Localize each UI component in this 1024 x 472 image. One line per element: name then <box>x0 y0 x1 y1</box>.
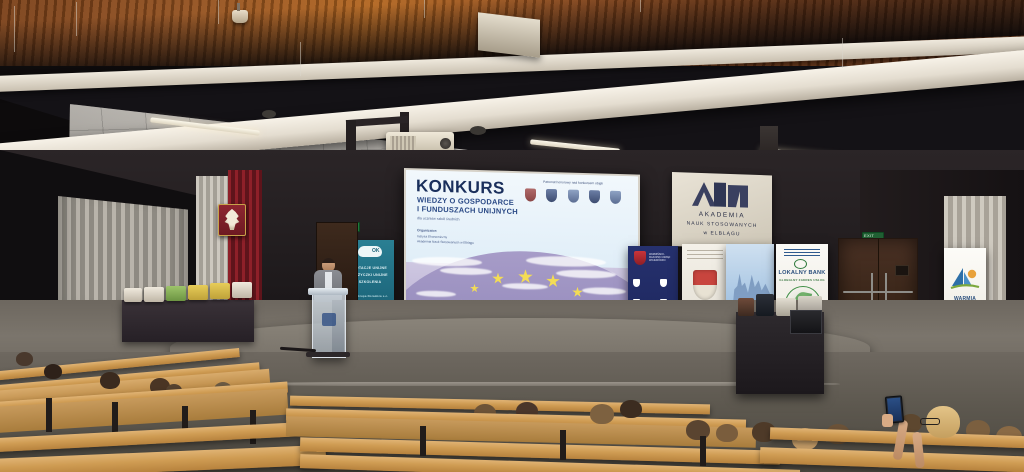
lectern-base <box>306 352 350 357</box>
speaker-shirt <box>325 272 332 288</box>
patron-logo-wojewoda-crest <box>546 189 557 202</box>
lectern-top-laptop <box>308 288 348 295</box>
ceiling-vent <box>262 110 276 118</box>
patron-logo-elblag-crest <box>525 189 536 202</box>
bench-support <box>46 398 52 432</box>
slide-patron-logos <box>514 186 632 207</box>
banner-wojewoda-heading: WARMIŃSKO-MAZURSKI URZĄD WOJEWÓDZKI <box>649 253 675 262</box>
slide-organizer-label: Organizator: <box>417 228 437 233</box>
lectern <box>312 292 346 358</box>
ceiling-wire <box>424 0 425 18</box>
bank-logo-icon <box>794 259 807 269</box>
patron-logo-kuratorium-crest <box>568 190 579 203</box>
audience-head <box>16 352 33 366</box>
lecture-hall-photo: EXIT AKADEMIA NAUK STOSOWANYCH w ELBLĄGU <box>0 0 1024 472</box>
prize-basket <box>166 286 186 301</box>
bench-support <box>420 426 426 456</box>
banner-bank-subtitle: GLOBALNY ZAKRES USŁUG <box>776 278 828 282</box>
mini-crest-icon <box>660 279 667 287</box>
prize-basket <box>144 287 164 302</box>
ceiling-spotlight <box>232 10 248 23</box>
ceiling-speaker <box>478 12 540 58</box>
banner-crest-heading <box>687 250 723 260</box>
photographer-hand <box>882 414 893 427</box>
patron-logo-ans <box>610 191 621 204</box>
av-box <box>756 294 774 316</box>
wojewoda-eagle-icon <box>634 251 646 265</box>
ans-logo-icon <box>690 180 752 210</box>
heraldic-crest-icon <box>693 270 717 300</box>
banner-bank-title: LOKALNY BANK <box>776 270 828 276</box>
av-box <box>738 298 754 316</box>
ans-sign-line1: AKADEMIA <box>672 210 772 220</box>
sail-sun-logo-icon <box>950 266 980 290</box>
bench-support <box>560 430 566 460</box>
audience-head <box>686 420 710 440</box>
lectern-logo-icon <box>322 313 336 326</box>
audience-head <box>620 400 642 418</box>
ceiling-wire <box>76 2 77 36</box>
mini-crest-icon <box>633 279 640 287</box>
audience-head <box>44 364 62 379</box>
ans-sign-line3: w ELBLĄGU <box>672 229 772 238</box>
patron-logo-marszalek-crest <box>589 190 600 203</box>
slide-organizer-line1: Instytut Ekonomiczny <box>417 234 447 239</box>
prize-basket <box>124 288 142 302</box>
bank-header-text <box>784 249 820 258</box>
ok-logo-text: OK <box>372 248 380 254</box>
prize-basket <box>188 285 208 300</box>
ceiling-vent <box>470 126 486 135</box>
wall-sign-ans: AKADEMIA NAUK STOSOWANYCH w ELBLĄGU <box>672 172 772 249</box>
ceiling-wire <box>218 0 219 24</box>
audience-head <box>590 404 614 424</box>
audience-head <box>716 424 738 442</box>
av-monitor <box>790 310 822 334</box>
polish-national-emblem <box>218 204 246 236</box>
glasses-icon <box>920 418 940 425</box>
door-sign <box>895 265 909 276</box>
prize-basket <box>232 282 252 298</box>
ceiling-wire <box>14 6 15 52</box>
ceiling-wire <box>842 38 843 68</box>
door-push-bar[interactable] <box>843 291 913 293</box>
prize-basket-group <box>122 258 254 344</box>
ceiling-wire <box>300 42 301 76</box>
projector-lens <box>440 138 451 149</box>
banner-wojewoda-grid <box>633 274 673 292</box>
ans-sign-line2: NAUK STOSOWANYCH <box>672 220 772 229</box>
audience-head <box>100 372 120 389</box>
ceiling-wire <box>640 0 641 12</box>
prize-basket <box>210 283 230 299</box>
bench-support <box>700 436 706 466</box>
